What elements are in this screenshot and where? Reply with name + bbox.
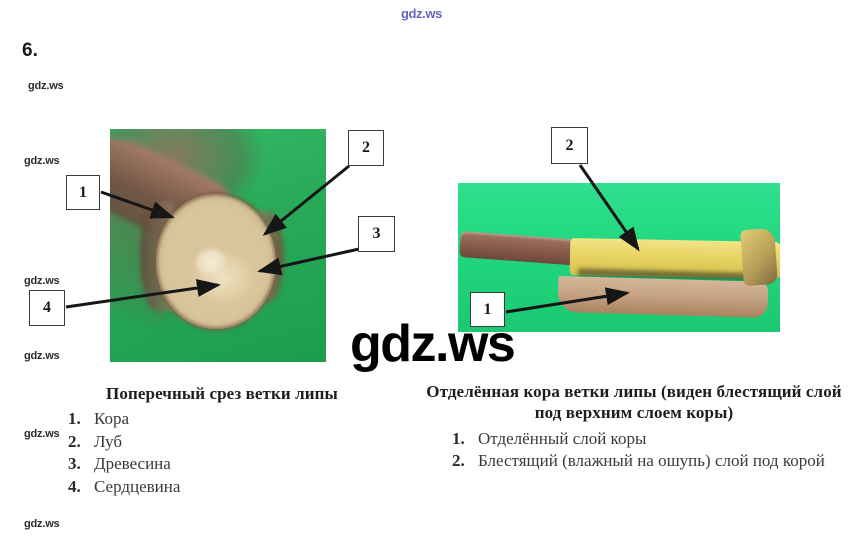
branch-tip-shape [740, 228, 778, 286]
figure-left-photo [110, 129, 326, 362]
list-item-number: 2. [68, 431, 94, 453]
list-item: 4. Сердцевина [68, 476, 420, 498]
list-item-number: 3. [68, 453, 94, 475]
list-item-label: Сердцевина [94, 476, 420, 498]
caption-left-list: 1. Кора 2. Луб 3. Древесина 4. Сердцевин… [24, 408, 420, 498]
watermark: gdz.ws [24, 275, 59, 287]
list-item: 3. Древесина [68, 453, 420, 475]
pith-shape [196, 249, 226, 275]
list-item: 1. Отделённый слой коры [452, 428, 844, 450]
watermark: gdz.ws [28, 80, 63, 92]
watermark-top: gdz.ws [401, 6, 442, 21]
list-item: 2. Луб [68, 431, 420, 453]
callout-left-2[interactable]: 2 [348, 130, 384, 166]
list-item-label: Отделённый слой коры [478, 428, 844, 450]
list-item-label: Древесина [94, 453, 420, 475]
task-number: 6. [22, 40, 38, 62]
figure-left-caption: Поперечный срез ветки липы 1. Кора 2. Лу… [24, 383, 420, 498]
figure-right-caption: Отделённая кора ветки липы (виден блестя… [424, 381, 844, 473]
list-item: 1. Кора [68, 408, 420, 430]
list-item-number: 4. [68, 476, 94, 498]
watermark: gdz.ws [24, 518, 59, 530]
watermark: gdz.ws [24, 155, 59, 167]
callout-left-1[interactable]: 1 [66, 175, 100, 210]
caption-right-title: Отделённая кора ветки липы (виден блестя… [424, 381, 844, 424]
callout-left-3[interactable]: 3 [358, 216, 395, 252]
list-item-number: 1. [68, 408, 94, 430]
callout-right-2[interactable]: 2 [551, 127, 588, 164]
list-item-label: Луб [94, 431, 420, 453]
callout-left-4[interactable]: 4 [29, 290, 65, 326]
caption-right-list: 1. Отделённый слой коры 2. Блестящий (вл… [424, 428, 844, 473]
watermark: gdz.ws [24, 350, 59, 362]
figure-right-photo [458, 183, 780, 332]
caption-left-title: Поперечный срез ветки липы [24, 383, 420, 404]
list-item-number: 1. [452, 428, 478, 450]
watermark-center-large: gdz.ws [350, 314, 514, 374]
list-item-number: 2. [452, 450, 478, 472]
list-item: 2. Блестящий (влажный на ошупь) слой под… [452, 450, 844, 472]
peeled-bark-shape [557, 276, 768, 318]
list-item-label: Кора [94, 408, 420, 430]
list-item-label: Блестящий (влажный на ошупь) слой под ко… [478, 450, 844, 472]
